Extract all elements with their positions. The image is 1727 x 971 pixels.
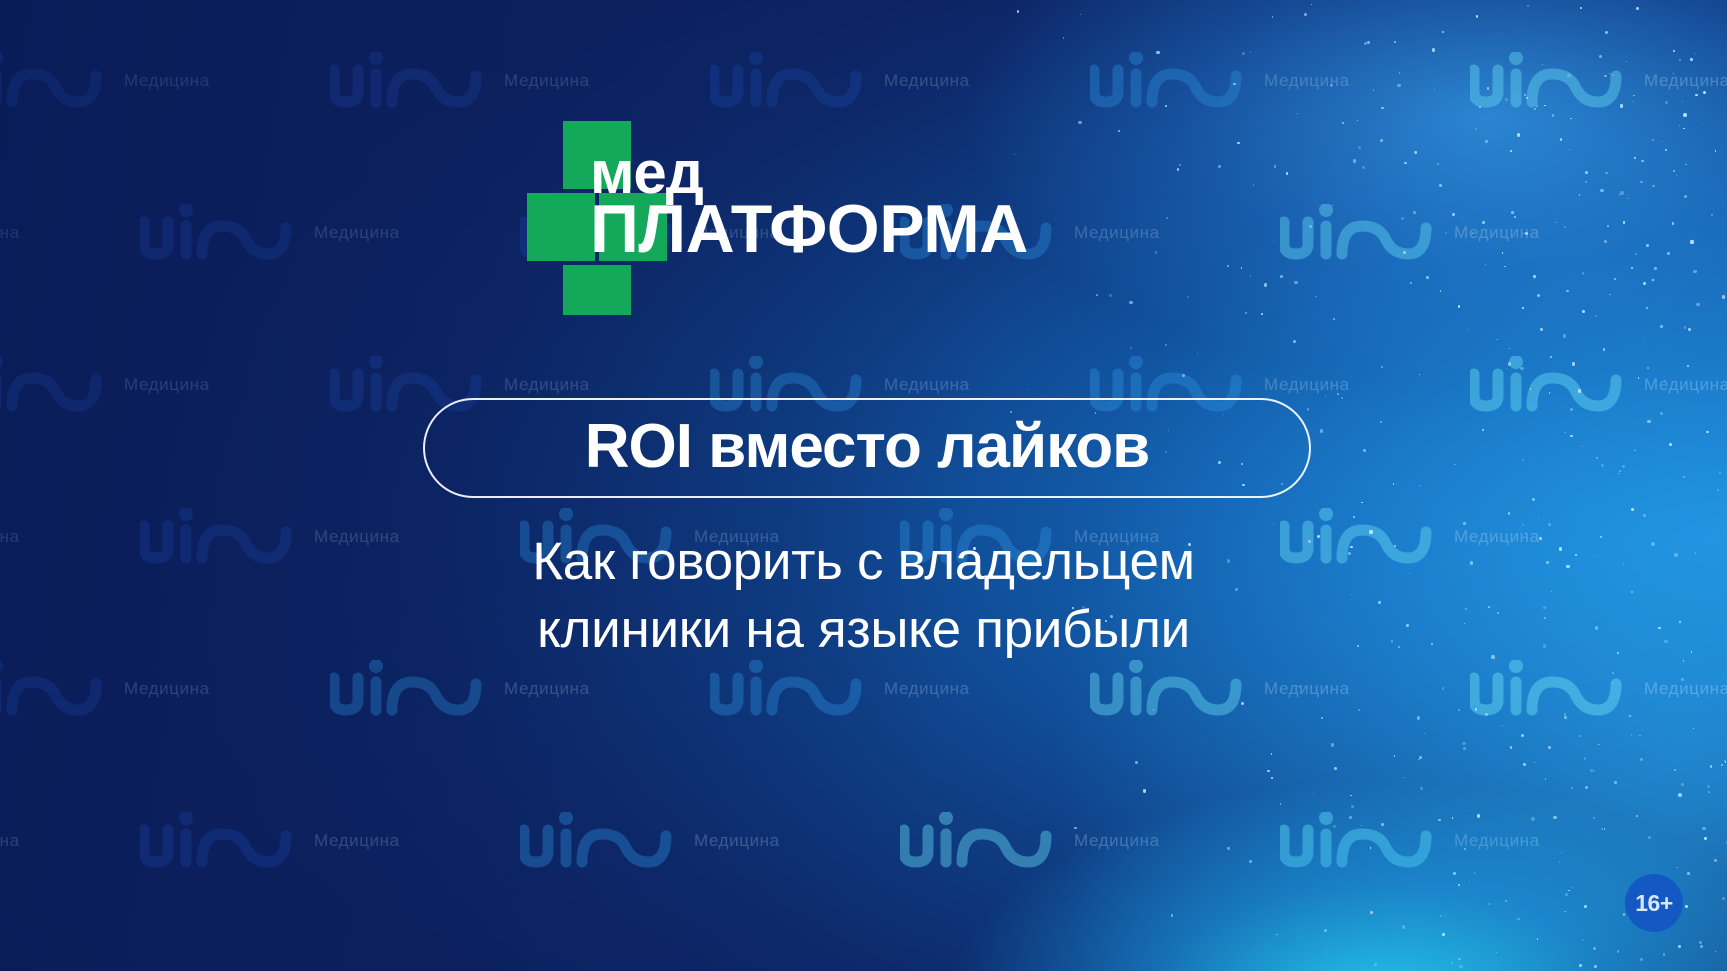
brand-logo-text: мед ПЛАТФОРМА: [590, 147, 1028, 260]
presentation-slide: Медицина Медицина Медицина Медицина Меди…: [0, 0, 1727, 971]
title-pill: ROI вместо лайков: [423, 398, 1311, 498]
cross-square-left: [527, 193, 595, 261]
subtitle-line-1: Как говорить с владельцем: [0, 528, 1727, 596]
brand-logo: мед ПЛАТФОРМА: [527, 121, 1157, 321]
subtitle-line-2: клиники на языке прибыли: [0, 596, 1727, 664]
age-rating-badge: 16+: [1625, 874, 1683, 932]
slide-title: ROI вместо лайков: [585, 411, 1150, 482]
cross-square-bottom: [563, 265, 631, 315]
brand-logo-line2: ПЛАТФОРМА: [590, 198, 1028, 261]
slide-subtitle: Как говорить с владельцем клиники на язы…: [0, 528, 1727, 664]
